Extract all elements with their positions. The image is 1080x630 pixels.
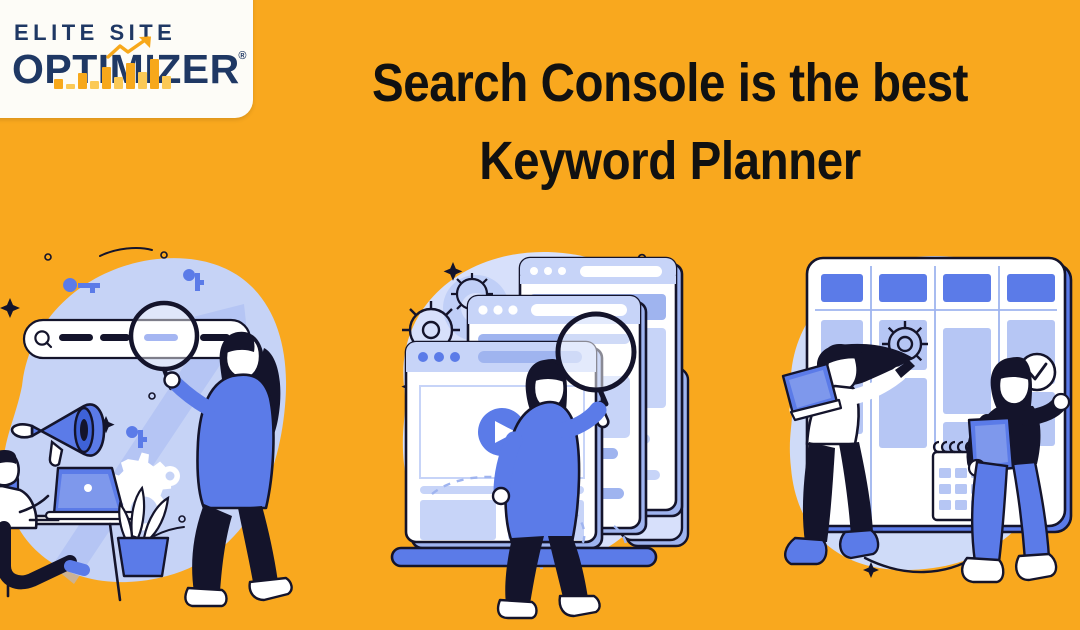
- logo-lockup: ELITE SITE OPTIMIZER®: [10, 22, 245, 104]
- kanban-board-illustration: [765, 236, 1080, 630]
- search-bar-illustration: [0, 236, 322, 630]
- logo-trend-arrow-icon: [106, 35, 168, 61]
- promotional-banner: ELITE SITE OPTIMIZER® Search Console is …: [0, 0, 1080, 630]
- headline-line-2: Keyword Planner: [318, 122, 1022, 200]
- registered-trademark-icon: ®: [238, 51, 247, 62]
- browser-stack-illustration: [368, 236, 713, 630]
- page-title: Search Console is the best Keyword Plann…: [318, 44, 1022, 201]
- logo-bottom-text: OPTIMIZER®: [10, 49, 245, 90]
- logo-card[interactable]: ELITE SITE OPTIMIZER®: [0, 0, 253, 118]
- headline-line-1: Search Console is the best: [318, 44, 1022, 122]
- illustration-row: [0, 236, 1080, 630]
